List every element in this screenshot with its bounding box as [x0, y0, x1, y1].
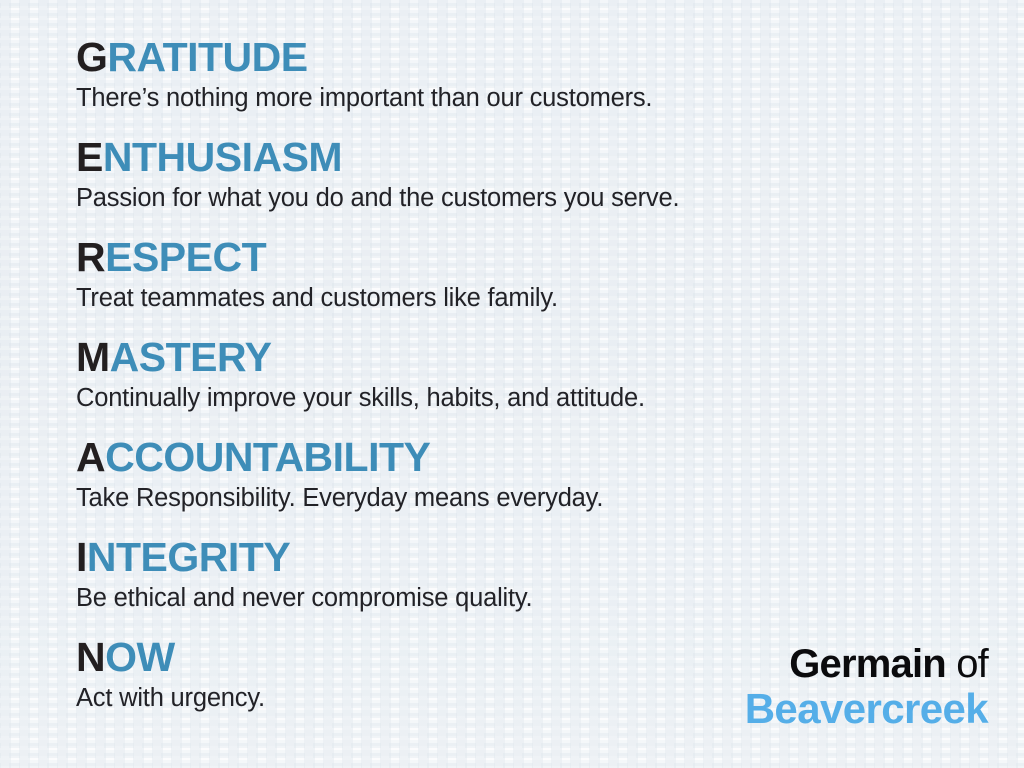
value-lead-letter: R	[76, 234, 105, 280]
value-description-accountability: Take Responsibility. Everyday means ever…	[76, 482, 976, 515]
value-heading-mastery: MASTERY	[76, 334, 976, 380]
logo-connector-word: of	[946, 642, 988, 686]
value-rest-letters: NTHUSIASM	[103, 134, 342, 180]
value-rest-letters: ESPECT	[105, 234, 266, 280]
value-heading-respect: RESPECT	[76, 234, 976, 280]
value-heading-integrity: INTEGRITY	[76, 534, 976, 580]
value-lead-letter: A	[76, 434, 105, 480]
value-heading-enthusiasm: ENTHUSIASM	[76, 134, 976, 180]
value-rest-letters: CCOUNTABILITY	[105, 434, 430, 480]
value-rest-letters: ASTERY	[110, 334, 272, 380]
value-heading-gratitude: GRATITUDE	[76, 34, 976, 80]
value-item-enthusiasm: ENTHUSIASM Passion for what you do and t…	[76, 134, 976, 215]
core-values-list: GRATITUDE There’s nothing more important…	[76, 34, 976, 715]
value-lead-letter: G	[76, 34, 107, 80]
value-description-enthusiasm: Passion for what you do and the customer…	[76, 182, 976, 215]
value-rest-letters: RATITUDE	[107, 34, 307, 80]
logo-location-name: Beavercreek	[745, 686, 988, 732]
value-heading-accountability: ACCOUNTABILITY	[76, 434, 976, 480]
logo-brand-name: Germain	[789, 642, 946, 686]
value-item-gratitude: GRATITUDE There’s nothing more important…	[76, 34, 976, 115]
value-rest-letters: OW	[105, 634, 175, 680]
value-lead-letter: E	[76, 134, 103, 180]
logo-line-brand: Germain of	[745, 642, 988, 686]
value-description-integrity: Be ethical and never compromise quality.	[76, 582, 976, 615]
value-item-accountability: ACCOUNTABILITY Take Responsibility. Ever…	[76, 434, 976, 515]
value-rest-letters: NTEGRITY	[87, 534, 290, 580]
value-lead-letter: M	[76, 334, 110, 380]
value-item-respect: RESPECT Treat teammates and customers li…	[76, 234, 976, 315]
dealership-logo: Germain of Beavercreek	[745, 642, 988, 732]
value-lead-letter: N	[76, 634, 105, 680]
value-item-mastery: MASTERY Continually improve your skills,…	[76, 334, 976, 415]
value-description-gratitude: There’s nothing more important than our …	[76, 82, 976, 115]
values-poster: GRATITUDE There’s nothing more important…	[0, 0, 1024, 768]
value-description-respect: Treat teammates and customers like famil…	[76, 282, 976, 315]
value-item-integrity: INTEGRITY Be ethical and never compromis…	[76, 534, 976, 615]
value-description-mastery: Continually improve your skills, habits,…	[76, 382, 976, 415]
value-lead-letter: I	[76, 534, 87, 580]
